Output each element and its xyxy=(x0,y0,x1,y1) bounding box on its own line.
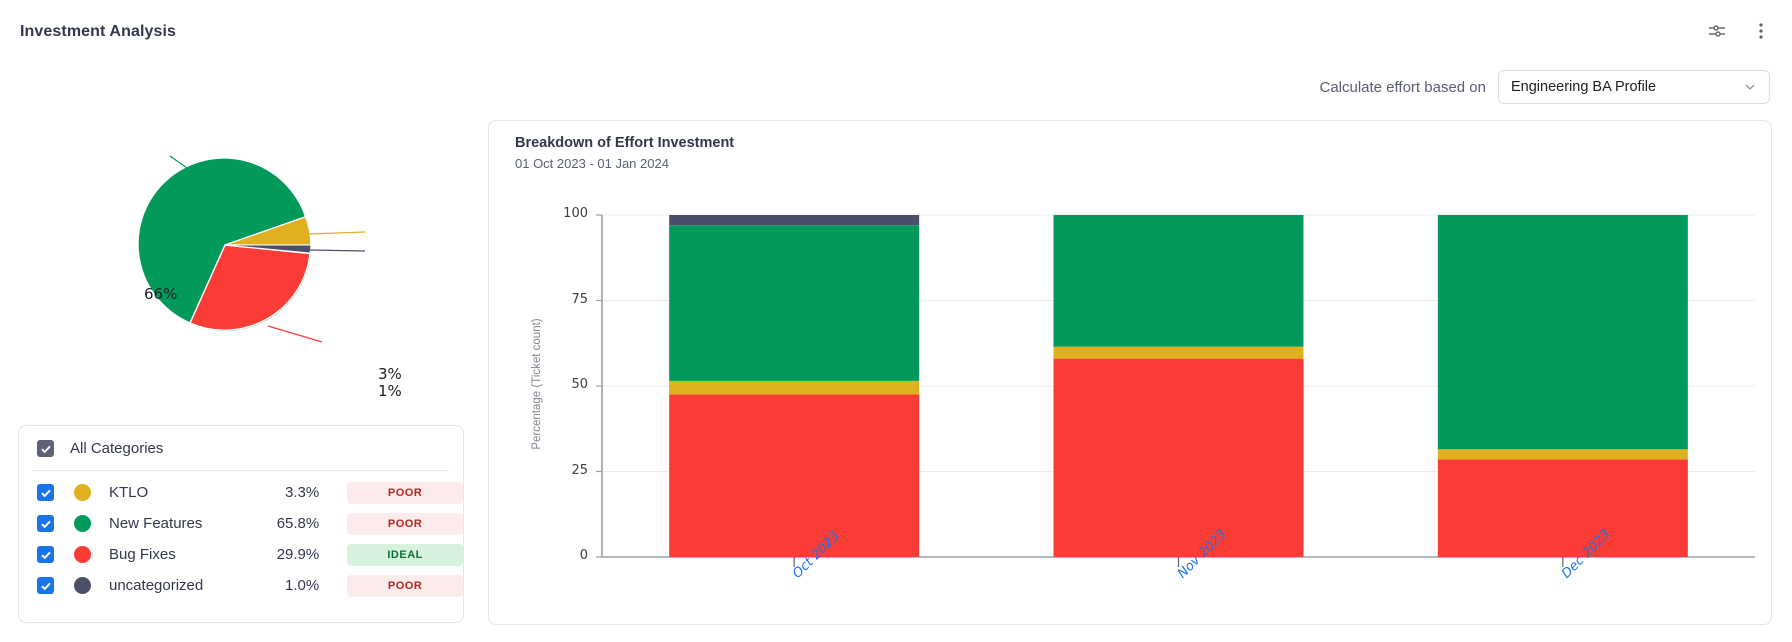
category-percentage: 65.8% xyxy=(254,515,320,532)
bar-segment[interactable] xyxy=(1438,449,1688,459)
all-categories-checkbox[interactable] xyxy=(37,440,54,457)
category-checkbox[interactable] xyxy=(37,484,54,501)
category-percentage: 3.3% xyxy=(254,484,320,501)
legend-row[interactable]: New Features65.8%POOR xyxy=(19,508,463,539)
status-badge: POOR xyxy=(347,482,463,504)
status-badge: POOR xyxy=(347,513,463,535)
bar-segment[interactable] xyxy=(669,395,919,557)
category-color-swatch xyxy=(74,577,91,594)
category-color-swatch xyxy=(74,515,91,532)
status-badge: POOR xyxy=(347,575,463,597)
chevron-down-icon xyxy=(1743,80,1757,94)
bar-segment[interactable] xyxy=(1438,460,1688,557)
pie-svg xyxy=(20,130,470,385)
legend-row[interactable]: KTLO3.3%POOR xyxy=(19,477,463,508)
category-checkbox[interactable] xyxy=(37,515,54,532)
leader-line-uncategorized xyxy=(310,250,365,251)
more-vertical-icon[interactable] xyxy=(1750,20,1772,42)
y-tick-label: 75 xyxy=(548,292,588,307)
categories-legend-card: All Categories KTLO3.3%POORNew Features6… xyxy=(18,425,464,623)
investment-pie-chart: 66% 3% 1% 30% xyxy=(20,130,470,385)
category-name: New Features xyxy=(109,515,254,532)
sliders-icon[interactable] xyxy=(1706,20,1728,42)
y-tick-label: 0 xyxy=(548,548,588,563)
category-checkbox[interactable] xyxy=(37,546,54,563)
bar-segment[interactable] xyxy=(1438,215,1688,449)
pie-label-uncategorized: 1% xyxy=(378,382,402,400)
y-axis-label: Percentage (Ticket count) xyxy=(531,304,543,464)
effort-selector-row: Calculate effort based on Engineering BA… xyxy=(1319,70,1770,104)
all-categories-label: All Categories xyxy=(70,440,163,457)
pie-label-new-features: 66% xyxy=(144,285,177,303)
y-tick-label: 25 xyxy=(548,463,588,478)
category-percentage: 29.9% xyxy=(254,546,320,563)
y-tick-label: 50 xyxy=(548,377,588,392)
bar-segment[interactable] xyxy=(1054,359,1304,557)
page-title: Investment Analysis xyxy=(20,23,176,41)
investment-analysis-page: Investment Analysis Calculate effort bas… xyxy=(0,0,1792,642)
leader-line-new-features xyxy=(170,156,187,168)
status-badge: IDEAL xyxy=(347,544,463,566)
category-percentage: 1.0% xyxy=(254,577,320,594)
bar-segment[interactable] xyxy=(1054,347,1304,359)
leader-line-ktlo xyxy=(309,232,365,234)
effort-profile-select[interactable]: Engineering BA Profile xyxy=(1498,70,1770,104)
category-color-swatch xyxy=(74,546,91,563)
category-name: Bug Fixes xyxy=(109,546,254,563)
legend-row[interactable]: uncategorized1.0%POOR xyxy=(19,570,463,601)
bar-segment[interactable] xyxy=(669,225,919,381)
legend-row-list: KTLO3.3%POORNew Features65.8%POORBug Fix… xyxy=(19,471,463,601)
category-color-swatch xyxy=(74,484,91,501)
bar-segment[interactable] xyxy=(1054,215,1304,347)
all-categories-row[interactable]: All Categories xyxy=(19,426,463,470)
effort-profile-value: Engineering BA Profile xyxy=(1511,79,1743,95)
effort-breakdown-card: Breakdown of Effort Investment 01 Oct 20… xyxy=(488,120,1772,625)
category-name: KTLO xyxy=(109,484,254,501)
leader-line-bug-fixes xyxy=(268,326,322,342)
bar-segment[interactable] xyxy=(669,381,919,395)
legend-row[interactable]: Bug Fixes29.9%IDEAL xyxy=(19,539,463,570)
bar-segment[interactable] xyxy=(669,215,919,225)
effort-label: Calculate effort based on xyxy=(1319,79,1486,96)
category-checkbox[interactable] xyxy=(37,577,54,594)
stacked-bar-plot: 0255075100Percentage (Ticket count)Oct 2… xyxy=(489,121,1773,626)
y-tick-label: 100 xyxy=(548,206,588,221)
header-actions xyxy=(1706,20,1772,42)
category-name: uncategorized xyxy=(109,577,254,594)
pie-label-ktlo: 3% xyxy=(378,365,402,383)
